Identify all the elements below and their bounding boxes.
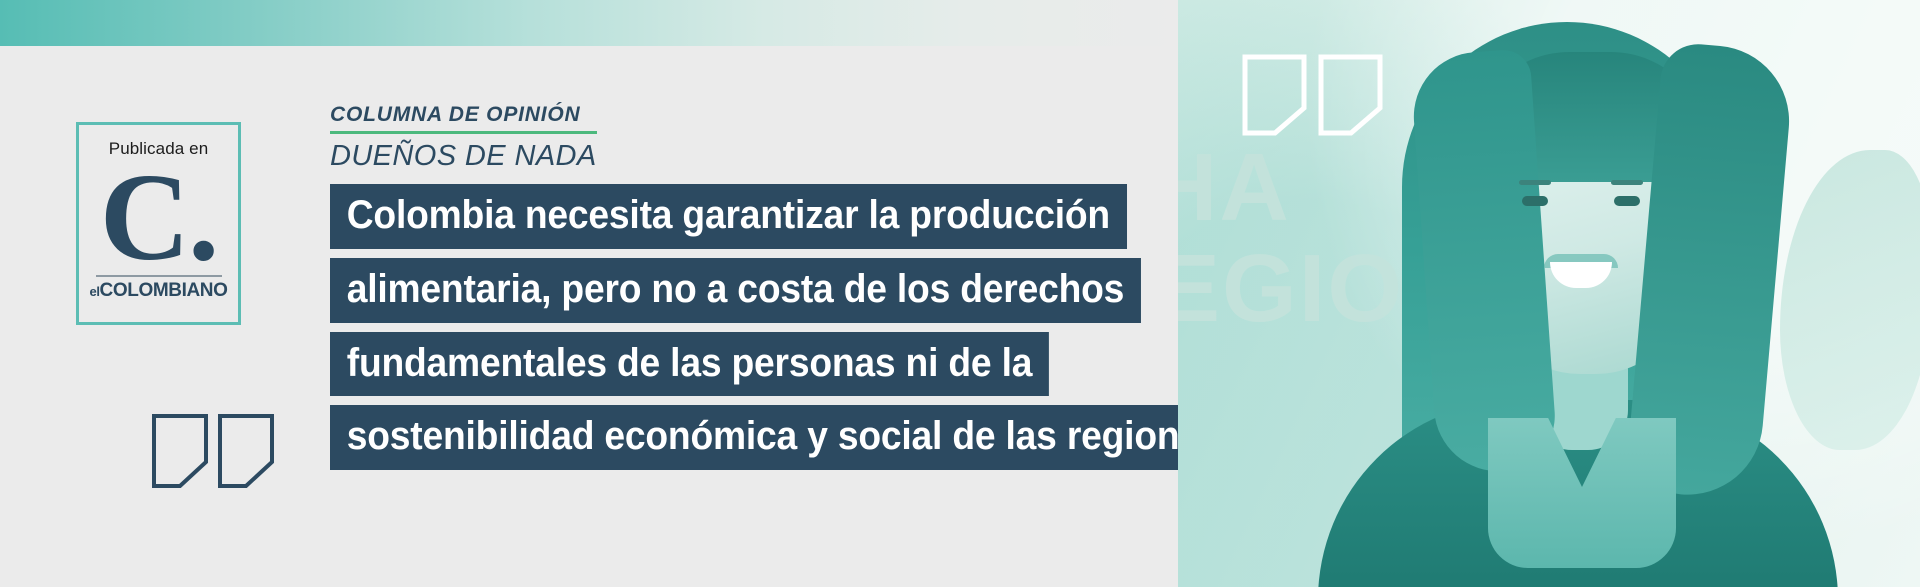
- portrait-eye-left: [1522, 196, 1548, 206]
- portrait-eyebrow-right: [1611, 180, 1643, 185]
- headline-line: sostenibilidad económica y social de las…: [330, 405, 1237, 470]
- left-content-panel: Publicada en C. elCOLOMBIANO COLUMNA DE …: [0, 0, 1178, 587]
- article-kicker-block: COLUMNA DE OPINIÓN DUEÑOS DE NADA: [330, 103, 597, 173]
- logo-divider: [96, 275, 222, 277]
- colombiano-c-monogram: C.: [100, 165, 218, 273]
- quote-mark-icon: [150, 412, 280, 490]
- headline-block: Colombia necesita garantizar la producci…: [330, 184, 1160, 479]
- kicker-label: COLUMNA DE OPINIÓN: [330, 103, 580, 131]
- publication-logo-card: Publicada en C. elCOLOMBIANO: [76, 122, 241, 325]
- columnist-portrait: [1274, 0, 1914, 587]
- portrait-eyebrow-left: [1519, 180, 1551, 185]
- portrait-eye-right: [1614, 196, 1640, 206]
- top-gradient-strip: [0, 0, 1178, 46]
- bottom-edge: [0, 581, 1178, 587]
- colombiano-wordmark: elCOLOMBIANO: [90, 280, 228, 302]
- kicker-underline: [330, 131, 597, 134]
- wordmark-main: COLOMBIANO: [100, 280, 228, 302]
- portrait-panel: HA EGIO: [1178, 0, 1920, 587]
- opinion-column-banner: Publicada en C. elCOLOMBIANO COLUMNA DE …: [0, 0, 1920, 587]
- headline-line: fundamentales de las personas ni de la: [330, 332, 1049, 397]
- column-title: DUEÑOS DE NADA: [330, 140, 597, 173]
- headline-line: alimentaria, pero no a costa de los dere…: [330, 258, 1141, 323]
- headline-line: Colombia necesita garantizar la producci…: [330, 184, 1127, 249]
- wordmark-prefix: el: [90, 284, 100, 299]
